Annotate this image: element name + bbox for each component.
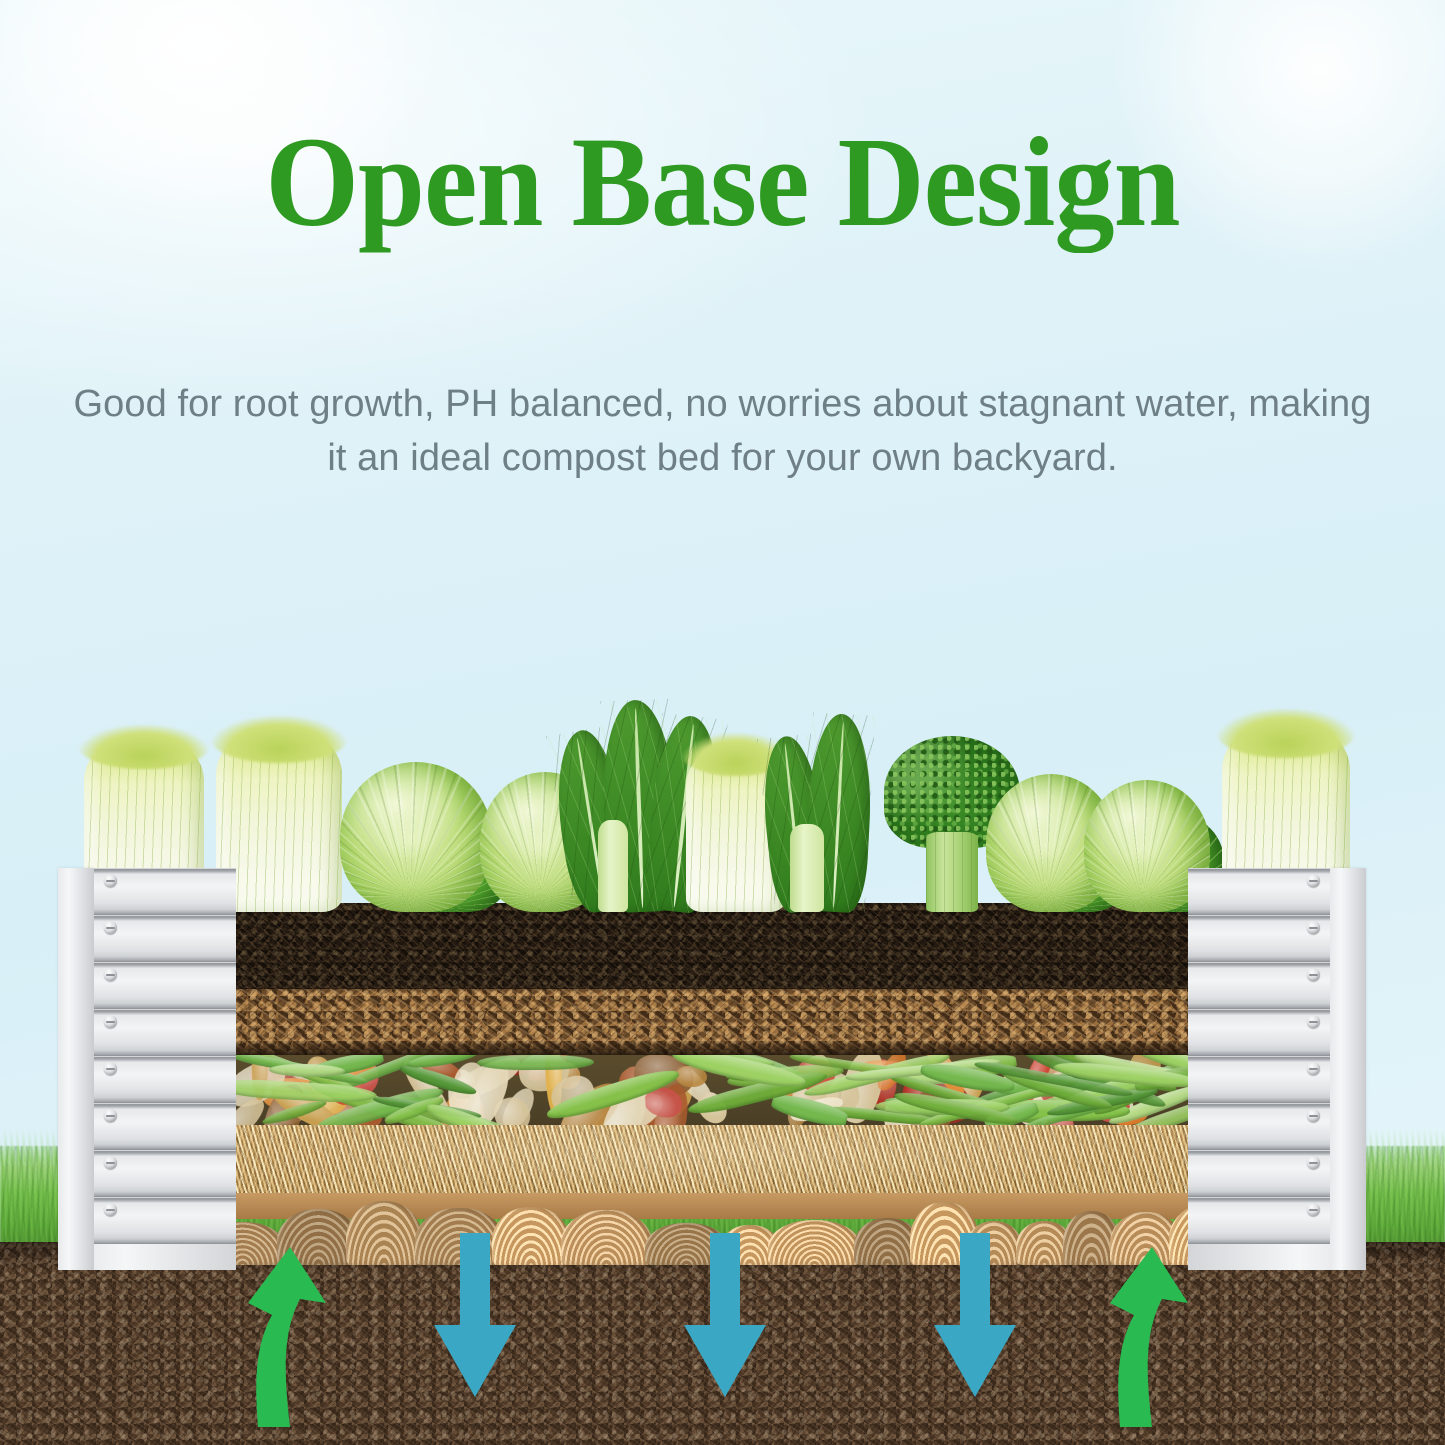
bed-panel-right[interactable]: [1188, 868, 1366, 1270]
panel-slat: [94, 1009, 236, 1056]
layer-kitchen-scraps: [212, 1055, 1190, 1125]
product-feature-graphic: Open Base Design Good for root growth, P…: [0, 0, 1445, 1445]
panel-slat: [1188, 1009, 1330, 1056]
arrow-down-3-icon: [930, 1233, 1020, 1405]
page-title: Open Base Design: [43, 118, 1401, 246]
arrow-down-1-icon: [430, 1233, 520, 1405]
arrow-down-2-icon: [680, 1233, 770, 1405]
scrap-leek-strip: [477, 1055, 594, 1071]
bed-panel-left[interactable]: [58, 868, 236, 1270]
screw-icon: [1307, 921, 1320, 934]
panel-slat: [94, 1150, 236, 1197]
screw-icon: [1307, 1062, 1320, 1075]
vegetable-broccoli-stem: [926, 832, 978, 912]
panel-slat: [94, 962, 236, 1009]
panel-slat: [1188, 1150, 1330, 1197]
page-subtitle: Good for root growth, PH balanced, no wo…: [63, 378, 1383, 486]
screw-icon: [104, 874, 117, 887]
panel-slat: [94, 1103, 236, 1150]
panel-slat: [1188, 1197, 1330, 1244]
vegetable-chard-stalk: [598, 820, 628, 912]
screw-icon: [1307, 1203, 1320, 1216]
panel-slat: [1188, 1103, 1330, 1150]
panel-slat: [1188, 915, 1330, 962]
screw-icon: [104, 1203, 117, 1216]
screw-icon: [1307, 1015, 1320, 1028]
screw-icon: [1307, 968, 1320, 981]
screw-icon: [104, 1062, 117, 1075]
slat-stack-right: [1188, 868, 1330, 1270]
panel-slat: [1188, 962, 1330, 1009]
corner-post-right: [1330, 868, 1366, 1270]
panel-slat: [94, 868, 236, 915]
slat-stack-left: [94, 868, 236, 1270]
compost-cross-section: [212, 903, 1190, 1219]
layer-compost-bark: [212, 989, 1190, 1055]
arrow-up-right-icon: [1100, 1241, 1196, 1427]
panel-slat: [94, 915, 236, 962]
vegetable-green-cabbage: [340, 762, 492, 912]
panel-slat: [1188, 1056, 1330, 1103]
panel-slat: [1188, 868, 1330, 915]
screw-icon: [104, 921, 117, 934]
airflow-arrow-group: [0, 1245, 1445, 1445]
screw-icon: [1307, 1109, 1320, 1122]
screw-icon: [104, 1109, 117, 1122]
arrow-up-left-icon: [238, 1241, 334, 1427]
vegetable-bok-choy-stalk: [790, 824, 824, 912]
screw-icon: [1307, 1156, 1320, 1169]
layer-straw: [212, 1125, 1190, 1193]
panel-slat: [94, 1197, 236, 1244]
screw-icon: [104, 968, 117, 981]
screw-icon: [104, 1156, 117, 1169]
screw-icon: [1307, 874, 1320, 887]
panel-slat: [94, 1056, 236, 1103]
corner-post-left: [58, 868, 94, 1270]
vegetable-row: [0, 600, 1445, 912]
screw-icon: [104, 1015, 117, 1028]
layer-topsoil: [212, 903, 1190, 989]
